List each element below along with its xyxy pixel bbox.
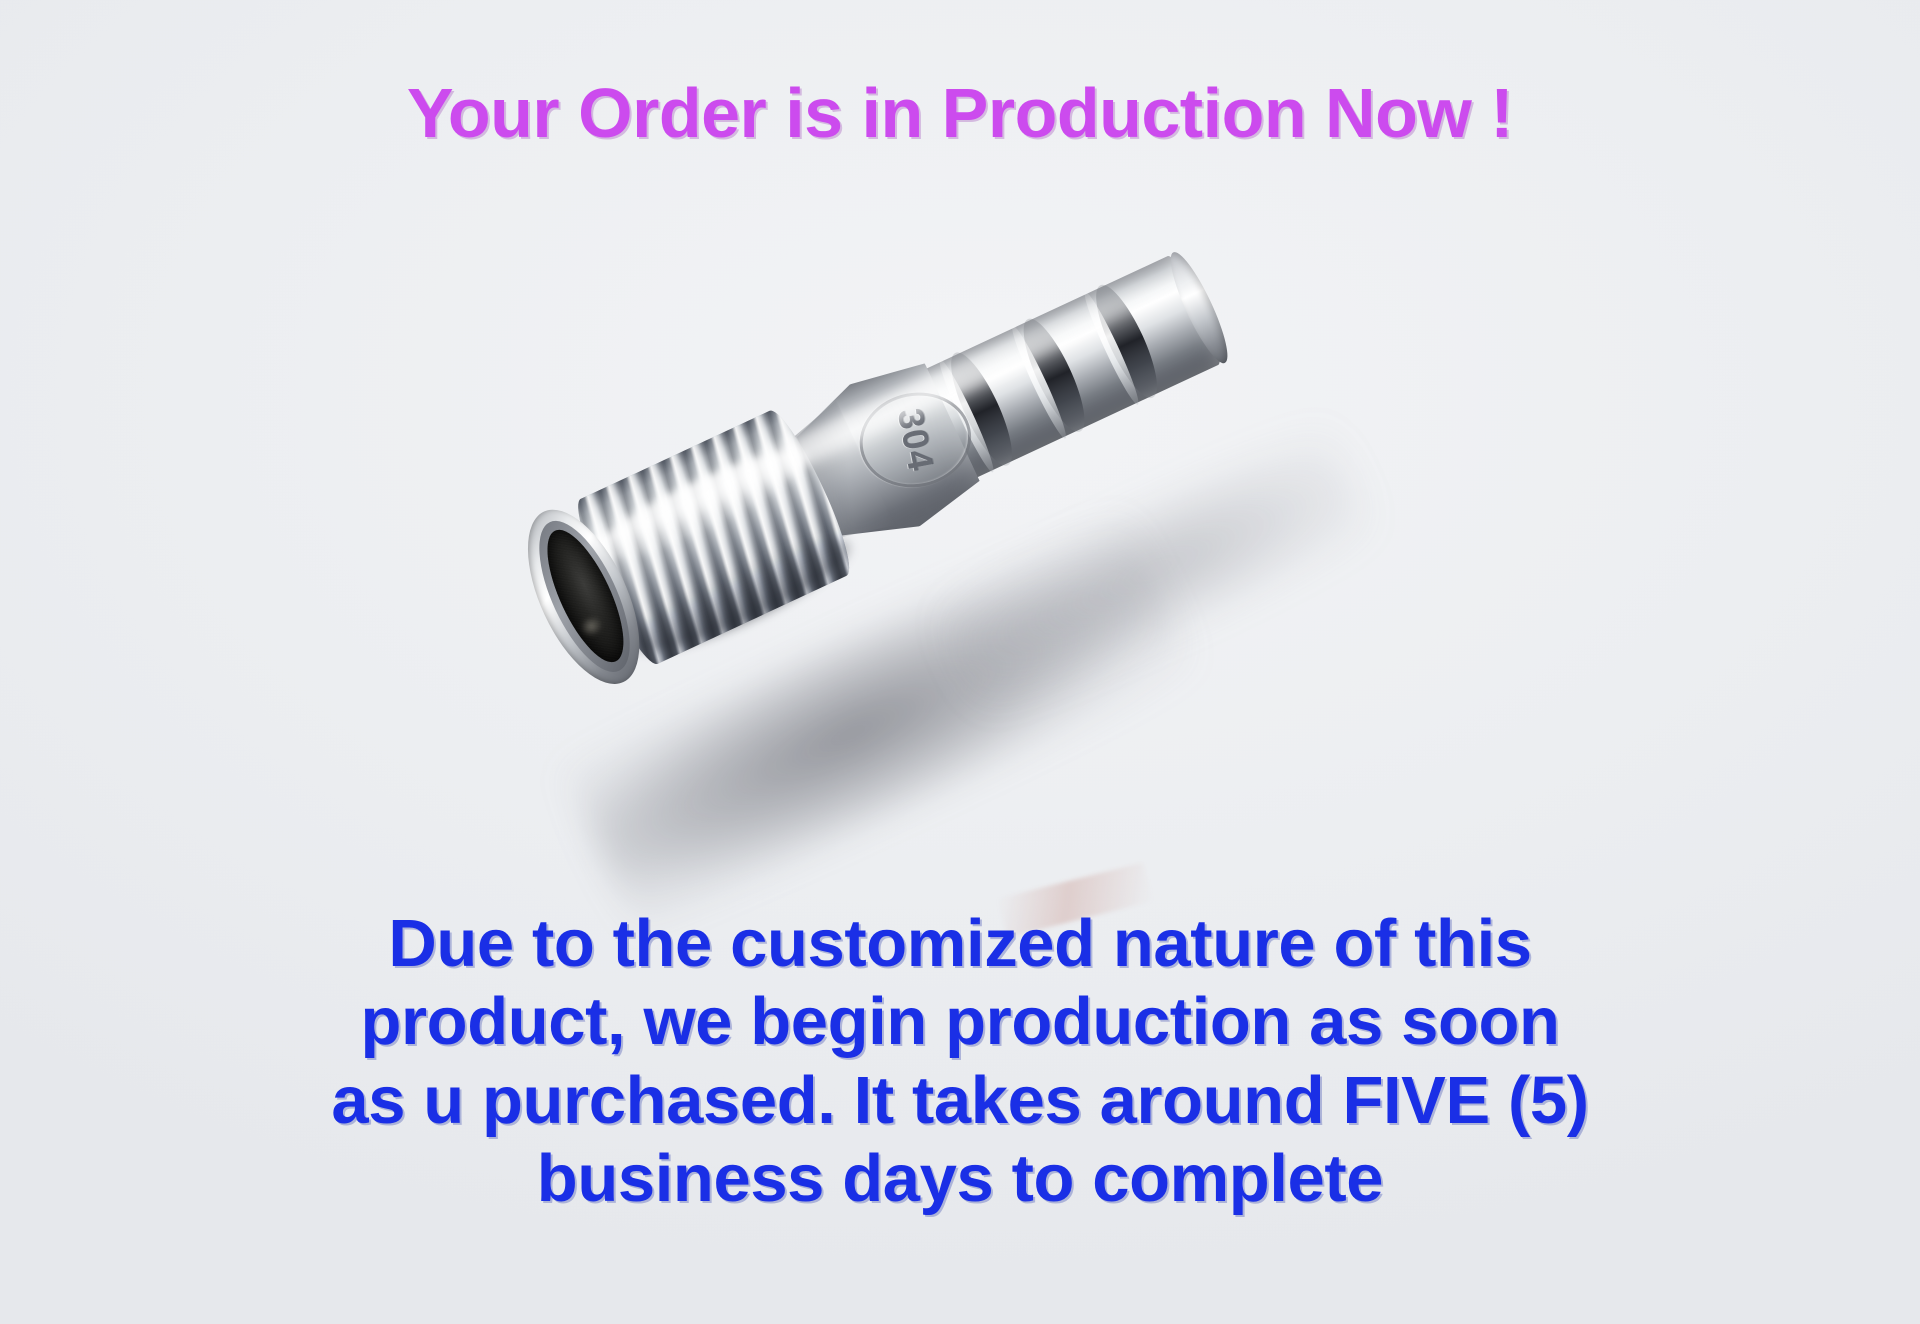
production-notice: Due to the customized nature of this pro… (0, 905, 1920, 1219)
notice-line: business days to complete (0, 1140, 1920, 1218)
product-photo: 304 (540, 330, 1380, 870)
page-title: Your Order is in Production Now ! (0, 78, 1920, 148)
notice-line: Due to the customized nature of this (0, 905, 1920, 983)
material-grade-stamp: 304 (860, 400, 970, 480)
notice-line: as u purchased. It takes around FIVE (5) (0, 1062, 1920, 1140)
promo-banner: Your Order is in Production Now ! (0, 0, 1920, 1324)
notice-line: product, we begin production as soon (0, 983, 1920, 1061)
